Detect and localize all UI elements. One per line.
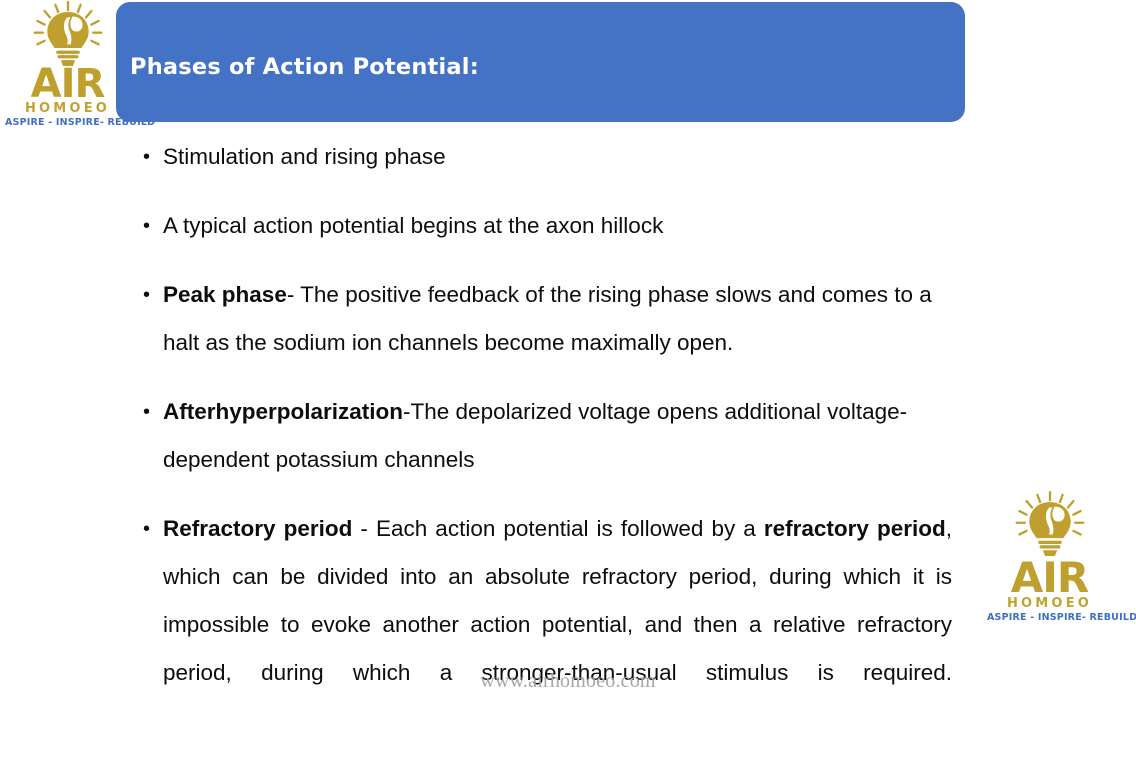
bullet-text: , which can be divided into an absolute …	[163, 516, 952, 685]
bullet-peak-phase: Peak phase- The positive feedback of the…	[140, 271, 952, 367]
bullet-afterhyperpolarization: Afterhyperpolarization-The depolarized v…	[140, 388, 952, 484]
bullet-text: Stimulation and rising phase	[163, 144, 446, 169]
lightbulb-icon	[1005, 488, 1095, 561]
logo-tagline: ASPIRE - INSPIRE- REBUILD	[987, 612, 1112, 623]
logo-air-text: AIR	[5, 64, 130, 104]
bullet-text: - Each action potential is followed by a	[352, 516, 763, 541]
logo-homoeo-text: HOMOEO	[987, 596, 1112, 611]
page-title: Phases of Action Potential:	[130, 54, 479, 80]
title-banner: Phases of Action Potential:	[116, 2, 965, 122]
brand-logo-watermark: AIR HOMOEO ASPIRE - INSPIRE- REBUILD	[987, 488, 1112, 626]
bullet-term: Afterhyperpolarization	[163, 399, 403, 424]
bullet-refractory-period: Refractory period - Each action potentia…	[140, 505, 952, 745]
bullet-term: Peak phase	[163, 282, 287, 307]
lightbulb-icon	[23, 0, 113, 69]
logo-homoeo-text: HOMOEO	[5, 101, 130, 116]
logo-air-text: AIR	[987, 557, 1112, 599]
bullet-stimulation-and-rising-phase: Stimulation and rising phase	[140, 133, 952, 181]
bullet-axon-hillock: A typical action potential begins at the…	[140, 202, 952, 250]
bullet-text: A typical action potential begins at the…	[163, 213, 663, 238]
footer-url: www.airhomoeo.com	[0, 670, 1136, 693]
slide-canvas: AIR HOMOEO ASPIRE - INSPIRE- REBUILD Pha…	[0, 0, 1136, 732]
bullet-term: Refractory period	[163, 516, 352, 541]
logo-tagline: ASPIRE - INSPIRE- REBUILD	[5, 117, 130, 128]
bullet-term: refractory period	[764, 516, 946, 541]
brand-logo: AIR HOMOEO ASPIRE - INSPIRE- REBUILD	[5, 0, 130, 130]
